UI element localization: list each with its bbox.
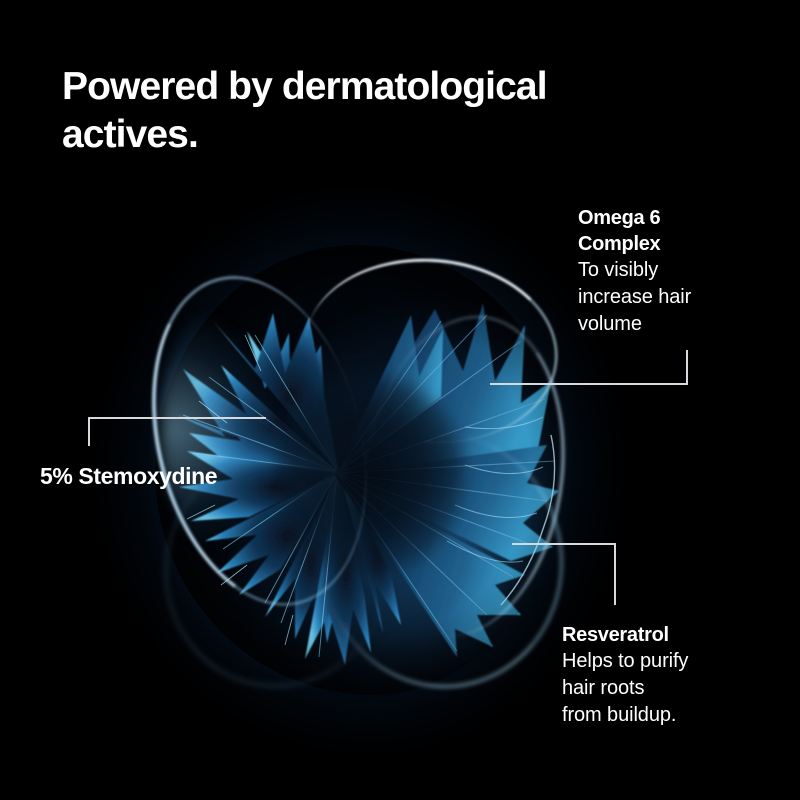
callout-omega-6-complex: Omega 6 Complex To visibly increase hair… xyxy=(578,205,793,338)
page-title: Powered by dermatological actives. xyxy=(62,63,682,159)
callout-resveratrol-title: Resveratrol xyxy=(562,622,797,648)
leader-line-stemoxydine-vertical xyxy=(88,418,90,446)
leader-line-omega-horizontal xyxy=(490,383,688,385)
callout-stemoxydine-label: 5% Stemoxydine xyxy=(40,463,217,490)
leader-line-omega-vertical xyxy=(686,350,688,385)
leader-line-resveratrol-horizontal xyxy=(512,543,616,545)
callout-resveratrol-body: Helps to purify hair roots from buildup. xyxy=(562,648,797,729)
callout-resveratrol: Resveratrol Helps to purify hair roots f… xyxy=(562,622,797,729)
callout-omega-title: Omega 6 Complex xyxy=(578,205,793,257)
callout-omega-body: To visibly increase hair volume xyxy=(578,257,793,338)
leader-line-stemoxydine-horizontal xyxy=(88,417,266,419)
leader-line-resveratrol-vertical xyxy=(614,543,616,605)
ingredient-infographic: Powered by dermatological actives. xyxy=(0,0,800,800)
